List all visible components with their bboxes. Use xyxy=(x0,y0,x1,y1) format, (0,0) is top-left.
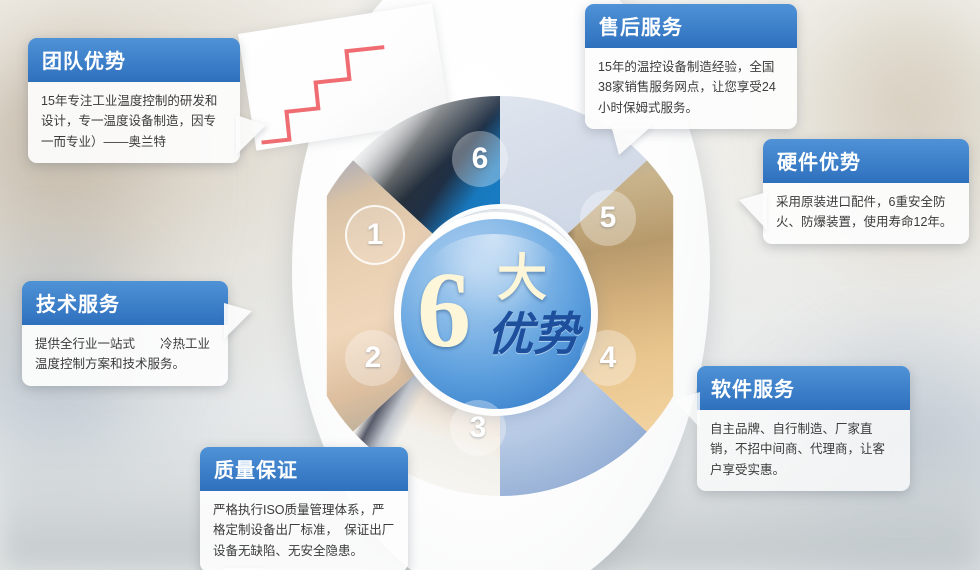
callout-title-team: 团队优势 xyxy=(28,38,240,82)
callout-title-software: 软件服务 xyxy=(697,366,910,410)
callout-card-quality[interactable]: 质量保证 严格执行ISO质量管理体系，严格定制设备出厂标准， 保证出厂设备无缺陷… xyxy=(200,447,408,570)
callout-body-quality: 严格执行ISO质量管理体系，严格定制设备出厂标准， 保证出厂设备无缺陷、无安全隐… xyxy=(200,491,408,570)
callout-card-hardware[interactable]: 硬件优势 采用原装进口配件，6重安全防火、防爆装置，使用寿命12年。 xyxy=(763,139,969,244)
callout-title-after-sales: 售后服务 xyxy=(585,4,797,48)
callout-card-team[interactable]: 团队优势 15年专注工业温度控制的研发和设计，专一温度设备制造，因专一而专业）—… xyxy=(28,38,240,163)
callout-title-technical: 技术服务 xyxy=(22,281,228,325)
callout-tail-software xyxy=(674,392,700,428)
callout-card-after-sales[interactable]: 售后服务 15年的温控设备制造经验，全国38家销售服务网点，让您享受24小时保姆… xyxy=(585,4,797,129)
callout-title-quality: 质量保证 xyxy=(200,447,408,491)
step-marker-3[interactable]: 3 xyxy=(450,400,506,456)
callout-tail-team xyxy=(236,115,266,155)
step-marker-4[interactable]: 4 xyxy=(580,330,636,386)
badge-number: 6 xyxy=(417,257,471,365)
step-marker-2[interactable]: 2 xyxy=(345,330,401,386)
callout-card-software[interactable]: 软件服务 自主品牌、自行制造、厂家直销，不招中间商、代理商，让客户享受实惠。 xyxy=(697,366,910,491)
badge-keyword: 优势 xyxy=(487,311,579,357)
callout-card-technical[interactable]: 技术服务 提供全行业一站式 冷热工业温度控制方案和技术服务。 xyxy=(22,281,228,386)
callout-body-software: 自主品牌、自行制造、厂家直销，不招中间商、代理商，让客户享受实惠。 xyxy=(697,410,910,491)
callout-body-hardware: 采用原装进口配件，6重安全防火、防爆装置，使用寿命12年。 xyxy=(763,183,969,244)
callout-body-team: 15年专注工业温度控制的研发和设计，专一温度设备制造，因专一而专业）——奥兰特 xyxy=(28,82,240,163)
step-marker-6[interactable]: 6 xyxy=(452,131,508,187)
advantages-infographic: 6 大 优势 1 2 3 4 5 6 团队优势 15年专注工业温度控制的研发和设… xyxy=(0,0,980,570)
center-badge: 6 大 优势 xyxy=(401,219,591,409)
callout-tail-after-sales xyxy=(611,125,653,155)
step-marker-1[interactable]: 1 xyxy=(345,205,405,265)
callout-body-technical: 提供全行业一站式 冷热工业温度控制方案和技术服务。 xyxy=(22,325,228,386)
callout-tail-hardware xyxy=(739,192,767,230)
callout-title-hardware: 硬件优势 xyxy=(763,139,969,183)
badge-measure-word: 大 xyxy=(497,253,547,303)
callout-tail-technical xyxy=(224,303,252,339)
step-marker-5[interactable]: 5 xyxy=(580,190,636,246)
callout-body-after-sales: 15年的温控设备制造经验，全国38家销售服务网点，让您享受24小时保姆式服务。 xyxy=(585,48,797,129)
